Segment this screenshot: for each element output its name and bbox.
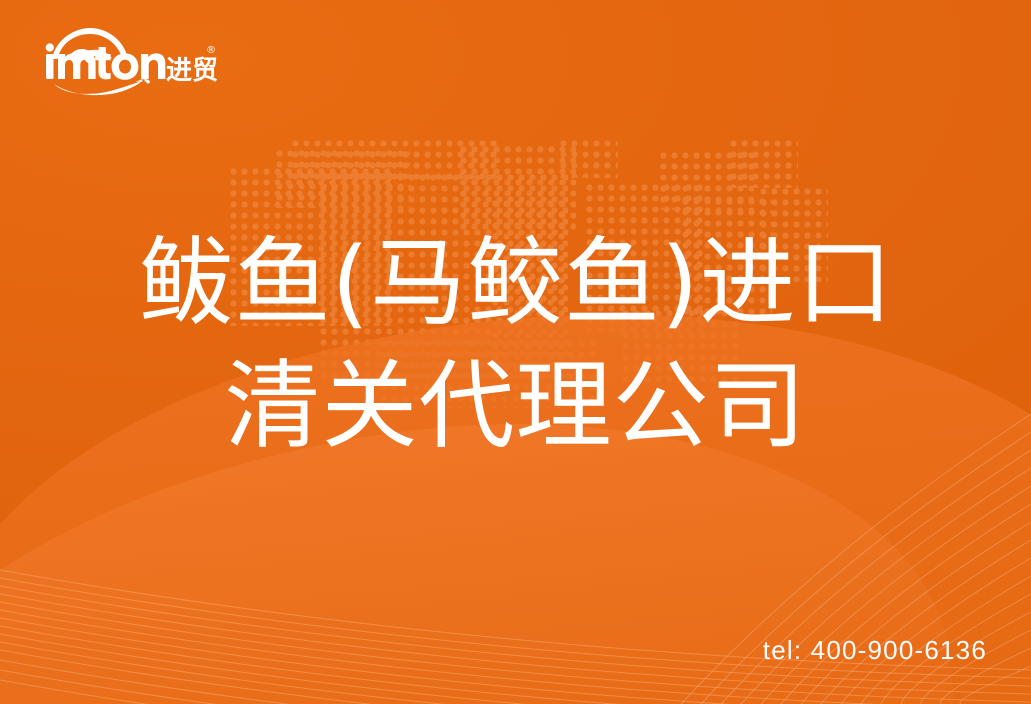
svg-text:进贸通: 进贸通 [166, 56, 217, 86]
page-title: 鲅鱼(马鲛鱼)进口 清关代理公司 [0, 222, 1031, 468]
title-line-2: 清关代理公司 [0, 345, 1031, 468]
poster-banner: 进贸通 ® 鲅鱼(马鲛鱼)进口 清关代理公司 tel: 400-900-6136 [0, 0, 1031, 704]
contact-phone[interactable]: tel: 400-900-6136 [763, 635, 987, 666]
imton-wordmark [46, 43, 166, 79]
logo-chinese-text: 进贸通 ® [166, 45, 217, 86]
svg-text:®: ® [206, 45, 216, 56]
swoosh-icon [54, 79, 150, 95]
brand-logo[interactable]: 进贸通 ® [42, 26, 217, 98]
title-line-1: 鲅鱼(马鲛鱼)进口 [0, 222, 1031, 345]
